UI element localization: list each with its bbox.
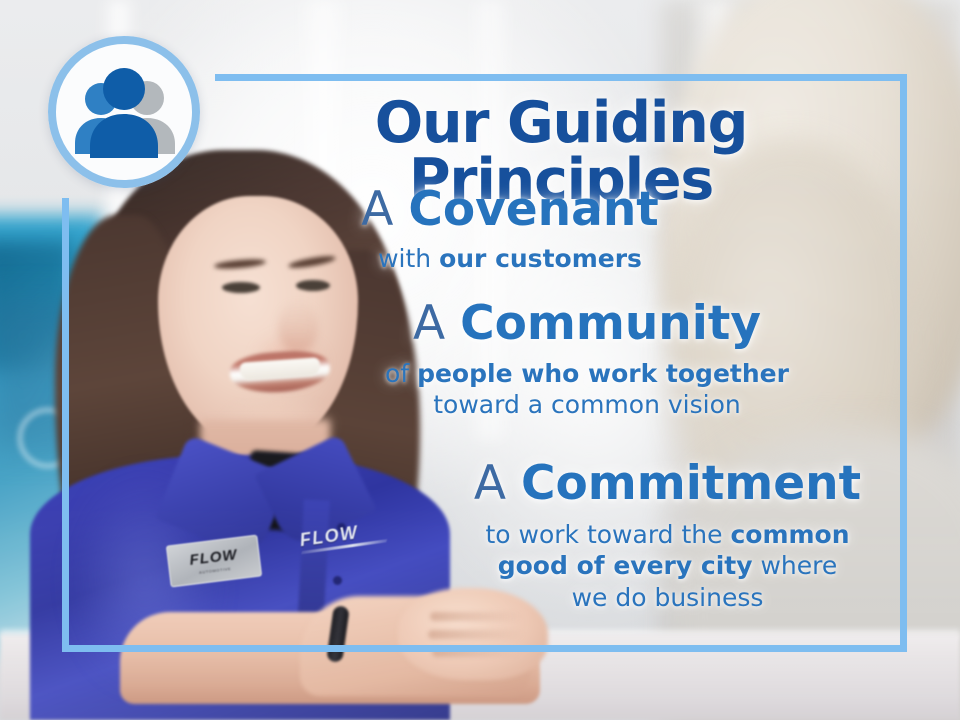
principle-heading: A Community bbox=[372, 300, 802, 349]
principle-word: Covenant bbox=[408, 182, 658, 237]
name-badge-logo-text: FLOW bbox=[189, 547, 239, 568]
principle-block-covenant: A Covenant with our customers bbox=[300, 186, 720, 274]
principle-article: A bbox=[474, 456, 506, 511]
subtext-segment: with bbox=[378, 244, 439, 273]
subtext-segment: of bbox=[385, 359, 417, 388]
principle-article: A bbox=[413, 296, 445, 351]
employee-shirt-button bbox=[333, 576, 342, 585]
principle-subtext-line: to work toward the common bbox=[440, 519, 895, 551]
principle-subtext-line: of people who work together bbox=[372, 358, 802, 390]
principle-subtext-line: we do business bbox=[440, 582, 895, 614]
principle-word: Commitment bbox=[521, 456, 861, 511]
principle-article: A bbox=[361, 182, 393, 237]
principle-subtext-line: toward a common vision bbox=[372, 389, 802, 421]
employee-nose bbox=[278, 300, 318, 352]
employee-finger bbox=[432, 648, 520, 657]
principle-subtext: with our customers bbox=[300, 243, 720, 275]
subtext-segment-bold: common bbox=[730, 520, 849, 549]
principle-subtext-line: good of every city where bbox=[440, 550, 895, 582]
principle-word: Community bbox=[460, 296, 761, 351]
subtext-segment: we do business bbox=[572, 583, 764, 612]
subtext-segment: where bbox=[753, 551, 838, 580]
principle-block-community: A Community of people who work together … bbox=[372, 300, 802, 421]
subtext-segment: toward a common vision bbox=[433, 390, 740, 419]
employee-eye bbox=[222, 282, 260, 293]
subtext-segment-bold: people who work together bbox=[417, 359, 789, 388]
name-badge-subtext: AUTOMOTIVE bbox=[199, 565, 232, 574]
principle-block-commitment: A Commitment to work toward the common g… bbox=[440, 460, 895, 613]
principle-subtext: of people who work together toward a com… bbox=[372, 358, 802, 421]
employee-eye bbox=[296, 280, 330, 291]
principle-subtext: to work toward the common good of every … bbox=[440, 519, 895, 614]
subtext-segment: to work toward the bbox=[485, 520, 730, 549]
people-group-icon bbox=[48, 36, 200, 188]
principle-heading: A Commitment bbox=[440, 460, 895, 509]
employee-finger bbox=[428, 630, 524, 639]
subtext-segment-bold: our customers bbox=[439, 244, 642, 273]
principle-heading: A Covenant bbox=[300, 186, 720, 235]
subtext-segment-bold: good of every city bbox=[498, 551, 753, 580]
principle-subtext-line: with our customers bbox=[300, 243, 720, 275]
guiding-principles-banner: FLOW AUTOMOTIVE FLOW bbox=[0, 0, 960, 720]
